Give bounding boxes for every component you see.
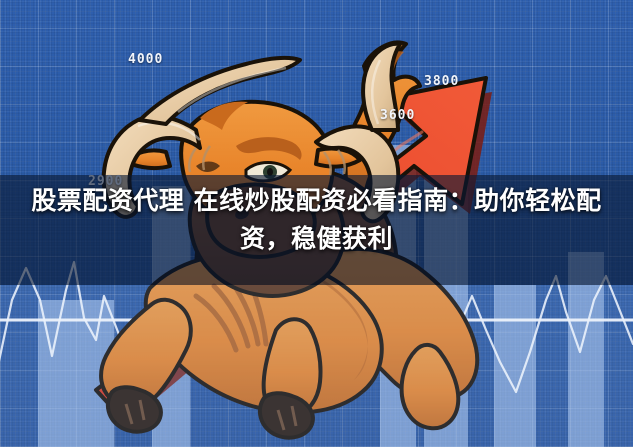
chart-value-label-3600: 3600 [380, 108, 415, 123]
chart-value-label-4000: 4000 [128, 52, 163, 67]
banner-image: 4000 3800 3600 2900 股票配资代理 在线炒股配资必看指南：助你… [0, 0, 633, 447]
page-title: 股票配资代理 在线炒股配资必看指南：助你轻松配 资，稳健获利 [22, 182, 611, 258]
lower-tint-band [0, 285, 633, 447]
chart-value-label-3800: 3800 [424, 74, 459, 89]
